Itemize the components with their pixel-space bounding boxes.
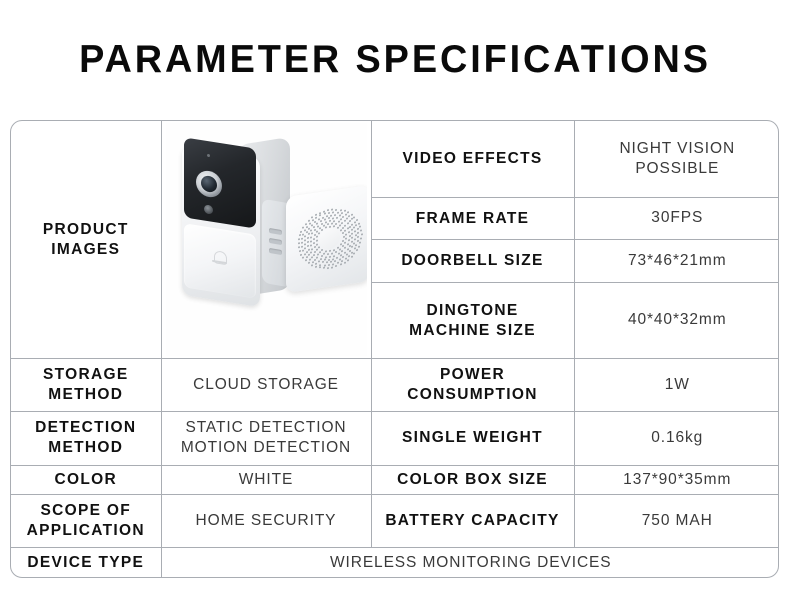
spec-label-storage-method: STORAGE METHOD — [11, 359, 161, 412]
spec-label-dingtone-machine-size: DINGTONE MACHINE SIZE — [371, 283, 574, 359]
speaker-grille-dot — [327, 212, 329, 214]
spec-value-frame-rate: 30FPS — [574, 197, 779, 240]
speaker-grille-dot — [313, 246, 315, 248]
speaker-grille-dot — [344, 258, 346, 260]
speaker-grille-dot — [307, 262, 309, 264]
spec-value-scope-of-application: HOME SECURITY — [161, 495, 371, 548]
speaker-grille-dot — [304, 223, 306, 225]
speaker-grille-dot — [311, 219, 313, 221]
speaker-grille-dot — [354, 234, 356, 236]
speaker-grille-dot — [297, 242, 299, 244]
speaker-grille-dot — [303, 230, 305, 232]
speaker-grille-dot — [338, 215, 340, 217]
speaker-grille-icon — [294, 192, 364, 284]
spec-label-device-type: DEVICE TYPE — [11, 548, 161, 577]
spec-value-detection-method: STATIC DETECTION MOTION DETECTION — [161, 411, 371, 465]
spec-value-color: WHITE — [161, 465, 371, 495]
speaker-grille-dot — [303, 239, 305, 241]
speaker-grille-dot — [345, 237, 347, 239]
speaker-grille-dot — [357, 232, 359, 234]
speaker-grille-dot — [322, 210, 324, 212]
speaker-grille-dot — [339, 264, 341, 266]
spec-label-frame-rate: FRAME RATE — [371, 197, 574, 240]
speaker-grille-dot — [336, 217, 338, 219]
speaker-grille-dot — [354, 230, 356, 232]
speaker-grille-dot — [348, 235, 350, 237]
speaker-grille-dot — [354, 238, 356, 240]
speaker-grille-dot — [337, 220, 339, 222]
speaker-grille-dot — [321, 229, 323, 231]
speaker-grille-dot — [335, 223, 337, 225]
speaker-grille-dot — [300, 230, 302, 232]
speaker-grille-dot — [316, 236, 318, 238]
spec-label-color-box-size: COLOR BOX SIZE — [371, 465, 574, 495]
speaker-grille-dot — [300, 242, 302, 244]
spec-label-power-consumption: POWER CONSUMPTION — [371, 359, 574, 412]
parameter-specifications-table: PRODUCT IMAGES — [10, 120, 779, 578]
speaker-grille-dot — [309, 240, 311, 242]
speaker-grille-dot — [351, 233, 353, 235]
speaker-grille-dot — [350, 213, 352, 215]
speaker-grille-dot — [350, 256, 352, 258]
speaker-grille-dot — [334, 260, 336, 262]
speaker-grille-dot — [344, 224, 346, 226]
speaker-grille-dot — [305, 226, 307, 228]
speaker-grille-dot — [324, 221, 326, 223]
spec-label-color: COLOR — [11, 465, 161, 495]
speaker-grille-dot — [356, 228, 358, 230]
speaker-grille-dot — [321, 216, 323, 218]
speaker-grille-dot — [345, 253, 347, 255]
speaker-grille-dot — [339, 229, 341, 231]
speaker-grille-dot — [313, 229, 315, 231]
speaker-grille-dot — [355, 224, 357, 226]
speaker-grille-dot — [347, 259, 349, 261]
speaker-grille-dot — [315, 223, 317, 225]
speaker-grille-dot — [301, 249, 303, 251]
speaker-grille-dot — [303, 253, 305, 255]
speaker-grille-dot — [311, 232, 313, 234]
speaker-grille-dot — [340, 260, 342, 262]
speaker-grille-dot — [311, 248, 313, 250]
speaker-grille-dot — [356, 240, 358, 242]
speaker-grille-dot — [351, 251, 353, 253]
speaker-grille-dot — [302, 226, 304, 228]
speaker-grille-dot — [335, 251, 337, 253]
speaker-grille-dot — [300, 253, 302, 255]
speaker-grille-dot — [323, 213, 325, 215]
speaker-grille-dot — [344, 230, 346, 232]
speaker-grille-dot — [310, 236, 312, 238]
speaker-grille-dot — [313, 251, 315, 253]
speaker-grille-dot — [318, 212, 320, 214]
speaker-grille-dot — [305, 231, 307, 233]
speaker-grille-dot — [340, 212, 342, 214]
speaker-grille-dot — [342, 227, 344, 229]
speaker-grille-dot — [344, 247, 346, 249]
speaker-grille-dot — [357, 222, 359, 224]
speaker-grille-dot — [301, 234, 303, 236]
speaker-grille-dot — [343, 261, 345, 263]
speaker-grille-dot — [317, 218, 319, 220]
speaker-grille-dot — [308, 259, 310, 261]
spec-label-single-weight: SINGLE WEIGHT — [371, 411, 574, 465]
speaker-grille-dot — [342, 216, 344, 218]
speaker-grille-dot — [318, 266, 320, 268]
speaker-grille-dot — [357, 236, 359, 238]
speaker-grille-dot — [326, 253, 328, 255]
spec-label-doorbell-size: DOORBELL SIZE — [371, 240, 574, 283]
speaker-grille-dot — [298, 234, 300, 236]
speaker-grille-dot — [312, 242, 314, 244]
speaker-grille-dot — [333, 220, 335, 222]
speaker-grille-dot — [325, 215, 327, 217]
speaker-grille-dot — [336, 211, 338, 213]
speaker-grille-dot — [297, 246, 299, 248]
speaker-grille-dot — [339, 224, 341, 226]
speaker-grille-dot — [310, 229, 312, 231]
speaker-grille-dot — [326, 223, 328, 225]
speaker-grille-dot — [300, 246, 302, 248]
speaker-grille-dot — [351, 237, 353, 239]
table-row: SCOPE OF APPLICATION HOME SECURITY BATTE… — [11, 495, 779, 548]
speaker-grille-dot — [308, 248, 310, 250]
speaker-grille-dot — [349, 244, 351, 246]
speaker-grille-dot — [320, 223, 322, 225]
speaker-grille-dot — [353, 221, 355, 223]
speaker-grille-dot — [360, 233, 362, 235]
speaker-grille-dot — [330, 214, 332, 216]
speaker-grille-dot — [317, 260, 319, 262]
speaker-grille-dot — [350, 240, 352, 242]
speaker-grille-dot — [346, 222, 348, 224]
speaker-grille-dot — [326, 267, 328, 269]
spec-value-device-type: WIRELESS MONITORING DEVICES — [161, 548, 779, 577]
speaker-grille-dot — [298, 250, 300, 252]
speaker-grille-dot — [346, 243, 348, 245]
speaker-grille-dot — [360, 229, 362, 231]
speaker-grille-dot — [346, 248, 348, 250]
speaker-grille-dot — [333, 255, 335, 257]
spec-label-video-effects: VIDEO EFFECTS — [371, 121, 574, 197]
speaker-grille-dot — [306, 245, 308, 247]
spec-value-power-consumption: 1W — [574, 359, 779, 412]
speaker-grille-dot — [307, 228, 309, 230]
speaker-grille-dot — [355, 219, 357, 221]
speaker-grille-dot — [345, 233, 347, 235]
speaker-grille-dot — [332, 217, 334, 219]
speaker-grille-dot — [355, 249, 357, 251]
speaker-grille-dot — [332, 211, 334, 213]
speaker-grille-dot — [316, 253, 318, 255]
speaker-grille-dot — [353, 242, 355, 244]
bell-icon — [212, 248, 227, 269]
speaker-grille-dot — [341, 222, 343, 224]
table-row: STORAGE METHOD CLOUD STORAGE POWER CONSU… — [11, 359, 779, 412]
speaker-grille-dot — [335, 208, 337, 210]
spec-value-dingtone-machine-size: 40*40*32mm — [574, 283, 779, 359]
speaker-grille-dot — [314, 265, 316, 267]
spec-value-storage-method: CLOUD STORAGE — [161, 359, 371, 412]
speaker-grille-dot — [329, 225, 331, 227]
speaker-grille-dot — [344, 241, 346, 243]
speaker-grille-dot — [323, 218, 325, 220]
product-images-label: PRODUCT IMAGES — [11, 121, 161, 359]
speaker-grille-dot — [325, 261, 327, 263]
product-image-cell — [161, 121, 371, 359]
speaker-grille-dot — [319, 227, 321, 229]
speaker-grille-dot — [342, 236, 344, 238]
speaker-grille-dot — [351, 246, 353, 248]
speaker-grille-dot — [304, 235, 306, 237]
spec-sheet-page: PARAMETER SPECIFICATIONS PRODUCT IMAGES — [0, 0, 790, 612]
speaker-grille-dot — [329, 256, 331, 258]
speaker-grille-dot — [331, 266, 333, 268]
speaker-grille-dot — [347, 211, 349, 213]
speaker-grille-dot — [343, 210, 345, 212]
speaker-grille-dot — [297, 238, 299, 240]
speaker-grille-dot — [336, 256, 338, 258]
speaker-grille-dot — [315, 217, 317, 219]
speaker-grille-dot — [357, 245, 359, 247]
speaker-grille-dot — [315, 230, 317, 232]
chime-box-image — [262, 191, 367, 291]
speaker-grille-dot — [308, 233, 310, 235]
speaker-grille-dot — [316, 225, 318, 227]
speaker-grille-dot — [346, 227, 348, 229]
table-row: COLOR WHITE COLOR BOX SIZE 137*90*35mm — [11, 465, 779, 495]
spec-value-single-weight: 0.16kg — [574, 411, 779, 465]
speaker-grille-dot — [336, 227, 338, 229]
speaker-grille-dot — [348, 239, 350, 241]
speaker-grille-dot — [315, 263, 317, 265]
speaker-grille-dot — [350, 229, 352, 231]
speaker-grille-dot — [359, 241, 361, 243]
speaker-grille-dot — [360, 237, 362, 239]
speaker-grille-dot — [351, 223, 353, 225]
speaker-grille-dot — [305, 251, 307, 253]
speaker-grille-dot — [308, 222, 310, 224]
speaker-grille-dot — [331, 222, 333, 224]
speaker-grille-dot — [338, 258, 340, 260]
speaker-grille-dot — [310, 244, 312, 246]
table-row: DEVICE TYPE WIRELESS MONITORING DEVICES — [11, 548, 779, 577]
speaker-grille-dot — [343, 220, 345, 222]
speaker-grille-dot — [341, 250, 343, 252]
speaker-grille-dot — [300, 238, 302, 240]
speaker-grille-dot — [316, 243, 318, 245]
speaker-grille-dot — [313, 234, 315, 236]
speaker-grille-dot — [348, 255, 350, 257]
speaker-grille-dot — [359, 226, 361, 228]
speaker-grille-dot — [335, 265, 337, 267]
speaker-grille-dot — [310, 264, 312, 266]
speaker-grille-dot — [322, 267, 324, 269]
speaker-grille-dot — [349, 225, 351, 227]
page-title: PARAMETER SPECIFICATIONS — [12, 38, 778, 82]
speaker-grille-dot — [355, 244, 357, 246]
speaker-grille-dot — [339, 209, 341, 211]
speaker-grille-dot — [343, 251, 345, 253]
speaker-grille-dot — [341, 232, 343, 234]
speaker-grille-dot — [315, 240, 317, 242]
table-row: DETECTION METHOD STATIC DETECTION MOTION… — [11, 411, 779, 465]
speaker-grille-dot — [353, 253, 355, 255]
speaker-grille-dot — [311, 261, 313, 263]
microphone-icon — [207, 154, 210, 157]
spec-label-scope-of-application: SCOPE OF APPLICATION — [11, 495, 161, 548]
speaker-grille-dot — [304, 259, 306, 261]
speaker-grille-dot — [337, 253, 339, 255]
speaker-grille-dot — [344, 214, 346, 216]
spec-value-color-box-size: 137*90*35mm — [574, 465, 779, 495]
speaker-grille-dot — [322, 225, 324, 227]
spec-value-battery-capacity: 750 MAH — [574, 495, 779, 548]
speaker-grille-dot — [303, 243, 305, 245]
speaker-grille-dot — [341, 240, 343, 242]
speaker-grille-dot — [334, 214, 336, 216]
speaker-grille-dot — [304, 247, 306, 249]
product-photo — [166, 123, 367, 356]
speaker-grille-dot — [302, 257, 304, 259]
spec-label-battery-capacity: BATTERY CAPACITY — [371, 495, 574, 548]
speaker-grille-dot — [321, 261, 323, 263]
speaker-grille-dot — [348, 231, 350, 233]
speaker-grille-dot — [353, 216, 355, 218]
speaker-grille-dot — [342, 256, 344, 258]
speaker-grille-dot — [319, 214, 321, 216]
speaker-grille-dot — [332, 263, 334, 265]
speaker-grille-dot — [340, 218, 342, 220]
speaker-grille-dot — [306, 237, 308, 239]
speaker-grille-dot — [353, 227, 355, 229]
speaker-grille-dot — [329, 220, 331, 222]
spec-value-video-effects: NIGHT VISION POSSIBLE — [574, 121, 779, 197]
speaker-grille-dot — [305, 256, 307, 258]
speaker-grille-dot — [331, 252, 333, 254]
speaker-grille-dot — [306, 241, 308, 243]
speaker-grille-dot — [312, 238, 314, 240]
speaker-grille-dot — [313, 221, 315, 223]
spec-value-doorbell-size: 73*46*21mm — [574, 240, 779, 283]
speaker-grille-dot — [307, 220, 309, 222]
speaker-grille-dot — [353, 248, 355, 250]
spec-label-detection-method: DETECTION METHOD — [11, 411, 161, 465]
table-row: PRODUCT IMAGES — [11, 121, 779, 197]
speaker-grille-dot — [336, 262, 338, 264]
speaker-grille-dot — [318, 232, 320, 234]
